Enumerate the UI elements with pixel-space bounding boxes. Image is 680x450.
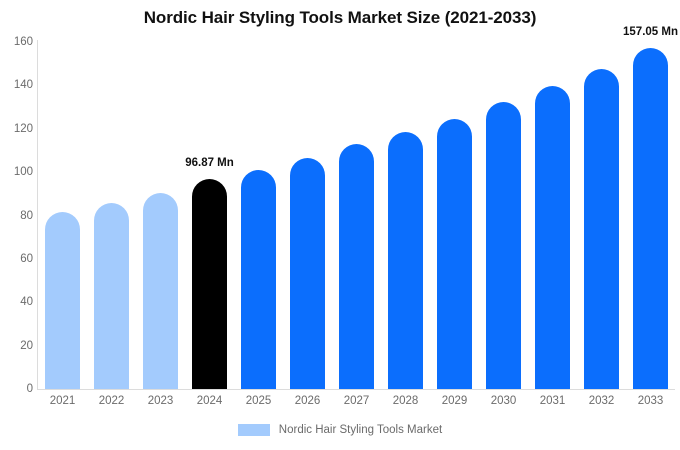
bar-slot — [388, 42, 423, 389]
bar-value-label: 157.05 Mn — [623, 26, 678, 38]
y-axis-tick-label: 140 — [3, 79, 33, 91]
bar-2027[interactable] — [339, 144, 374, 389]
legend-swatch — [238, 424, 270, 436]
bar-2026[interactable] — [290, 158, 325, 389]
bar-slot — [192, 42, 227, 389]
bar-slot — [584, 42, 619, 389]
bar-2029[interactable] — [437, 119, 472, 389]
bar-value-label: 96.87 Mn — [185, 157, 234, 169]
x-axis-tick-label: 2033 — [616, 395, 680, 407]
y-axis-tick-label: 100 — [3, 166, 33, 178]
bar-2033[interactable] — [633, 48, 668, 389]
chart-title: Nordic Hair Styling Tools Market Size (2… — [0, 8, 680, 28]
y-axis-tick-label: 40 — [3, 296, 33, 308]
y-axis-tick-label: 160 — [3, 36, 33, 48]
y-axis-tick-label: 80 — [3, 210, 33, 222]
bar-slot — [633, 42, 668, 389]
bar-2025[interactable] — [241, 170, 276, 389]
bar-2023[interactable] — [143, 193, 178, 389]
x-axis-line — [37, 389, 675, 390]
bar-chart: Nordic Hair Styling Tools Market Size (2… — [0, 0, 680, 450]
bar-slot — [290, 42, 325, 389]
y-axis-tick-label: 120 — [3, 123, 33, 135]
bar-2024[interactable] — [192, 179, 227, 389]
bar-slot — [45, 42, 80, 389]
bar-slot — [339, 42, 374, 389]
bar-slot — [437, 42, 472, 389]
y-axis-tick-label: 20 — [3, 340, 33, 352]
y-axis-tick-label: 0 — [3, 383, 33, 395]
y-axis-line — [37, 40, 38, 390]
bar-slot — [94, 42, 129, 389]
y-axis-tick-label: 60 — [3, 253, 33, 265]
legend-label: Nordic Hair Styling Tools Market — [279, 424, 442, 436]
bar-2028[interactable] — [388, 132, 423, 389]
bar-slot — [143, 42, 178, 389]
bar-slot — [241, 42, 276, 389]
bar-2030[interactable] — [486, 102, 521, 389]
bar-2022[interactable] — [94, 203, 129, 389]
bar-2032[interactable] — [584, 69, 619, 389]
bar-slot — [535, 42, 570, 389]
bar-slot — [486, 42, 521, 389]
bar-2021[interactable] — [45, 212, 80, 389]
bar-2031[interactable] — [535, 86, 570, 389]
chart-legend: Nordic Hair Styling Tools Market — [0, 424, 680, 436]
y-axis-ticks: 020406080100120140160 — [0, 0, 33, 450]
